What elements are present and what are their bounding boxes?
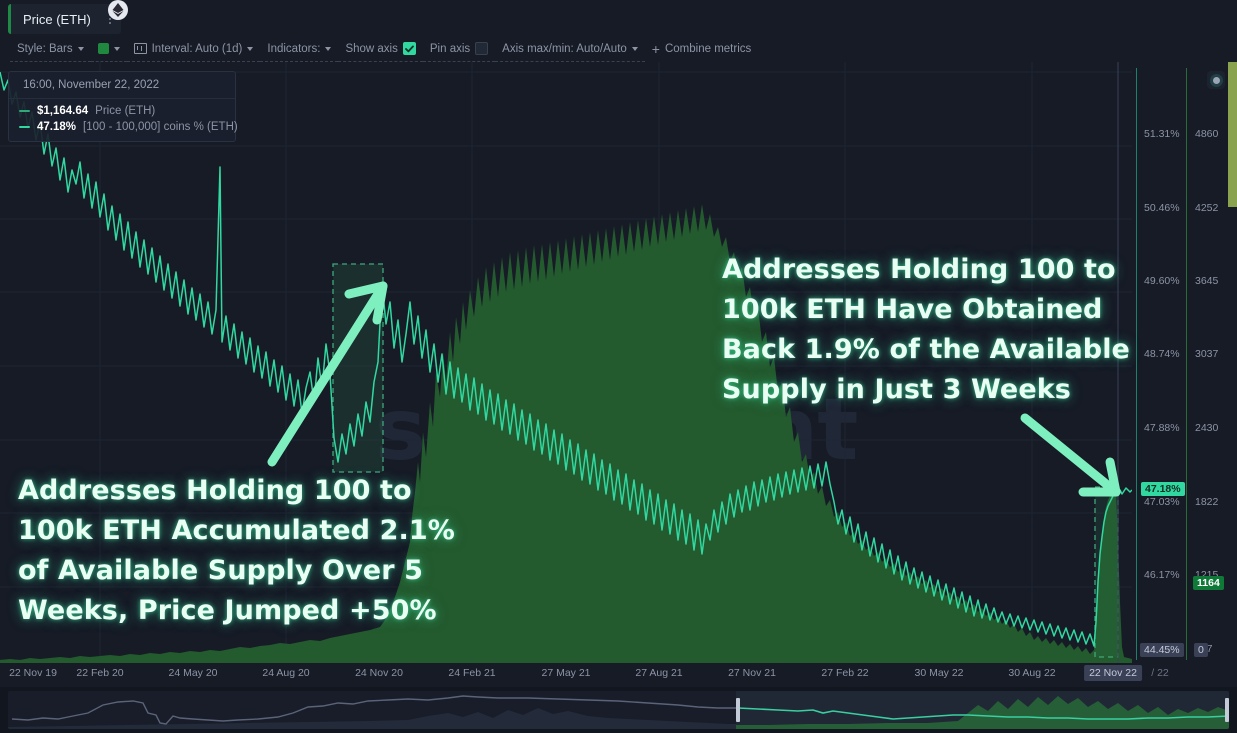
legend-date: 16:00, November 22, 2022 — [9, 72, 235, 99]
axis-tick: 49.60% — [1144, 275, 1180, 287]
x-axis-tick: 30 May 22 — [914, 667, 963, 679]
axis-tick: 51.31% — [1144, 128, 1180, 140]
show-axis-toggle[interactable]: Show axis — [338, 36, 422, 62]
ethereum-icon — [108, 0, 128, 20]
arrow-down-right-icon — [1025, 418, 1116, 492]
metric-tab-label: Price (ETH) — [23, 12, 91, 27]
axis-current-value-badge: 47.18% — [1141, 482, 1185, 496]
legend-series-name: [100 - 100,000] coins % (ETH) — [83, 121, 238, 133]
plot-area[interactable] — [0, 62, 1132, 663]
chart-canvas[interactable]: santiment — [0, 62, 1237, 663]
axis-tick: 4860 — [1195, 128, 1218, 140]
axis-tick: 4252 — [1195, 202, 1218, 214]
axis-tick: 47.88% — [1144, 422, 1180, 434]
chevron-down-icon — [78, 47, 84, 51]
legend-row-supply: 47.18% [100 - 100,000] coins % (ETH) — [19, 121, 225, 133]
interval-bars-icon — [134, 43, 147, 54]
interval-label: Interval: Auto (1d) — [152, 43, 243, 55]
chevron-down-icon — [247, 47, 253, 51]
olive-edge-strip — [1228, 62, 1237, 207]
axis-maxmin-selector[interactable]: Axis max/min: Auto/Auto — [495, 36, 645, 62]
x-axis-tick-trailing: / 22 — [1151, 667, 1169, 679]
navigator-track[interactable] — [8, 691, 1229, 729]
color-selector[interactable] — [91, 36, 127, 62]
axis-tick: 48.74% — [1144, 348, 1180, 360]
top-bar: Price (ETH) — [0, 0, 1237, 36]
axis-current-value-badge: 1164 — [1193, 576, 1224, 590]
navigator-handle-left[interactable] — [736, 698, 740, 722]
range-navigator[interactable] — [0, 687, 1237, 733]
legend-value: 47.18% — [37, 121, 76, 133]
x-axis-tick: 27 Aug 21 — [635, 667, 682, 679]
axis-tick: 3037 — [1195, 348, 1218, 360]
legend-series-name: Price (ETH) — [95, 105, 155, 117]
legend-value: $1,164.64 — [37, 105, 88, 117]
axis-tick: 1822 — [1195, 496, 1218, 508]
chart-legend-tooltip: 16:00, November 22, 2022 $1,164.64 Price… — [8, 71, 236, 142]
chevron-down-icon — [325, 47, 331, 51]
combine-metrics-button[interactable]: + Combine metrics — [645, 36, 758, 62]
axis-min-badge: 44.45% — [1140, 643, 1184, 657]
color-swatch-icon — [98, 43, 109, 54]
legend-rows: $1,164.64 Price (ETH) 47.18% [100 - 100,… — [9, 99, 235, 141]
x-axis-tick: 27 Nov 21 — [728, 667, 776, 679]
legend-color-dash — [19, 110, 30, 112]
metric-tab-price-eth[interactable]: Price (ETH) — [8, 4, 121, 34]
x-axis-tick: 24 Nov 20 — [355, 667, 403, 679]
x-axis-tick: 22 Feb 20 — [76, 667, 123, 679]
chart-graphics — [0, 62, 1132, 663]
indicators-selector[interactable]: Indicators: — [260, 36, 338, 62]
plus-icon: + — [652, 42, 660, 56]
axis-tick: 50.46% — [1144, 202, 1180, 214]
navigator-selection[interactable] — [736, 691, 1229, 729]
legend-row-price: $1,164.64 Price (ETH) — [19, 105, 225, 117]
x-axis-tick: 24 May 20 — [168, 667, 217, 679]
chevron-down-icon — [114, 47, 120, 51]
x-axis-tick: 27 May 21 — [541, 667, 590, 679]
show-axis-label: Show axis — [345, 43, 397, 55]
pin-axis-checkbox[interactable] — [475, 42, 488, 55]
x-axis-tick: 30 Aug 22 — [1008, 667, 1055, 679]
settings-dot-icon[interactable] — [1207, 71, 1225, 89]
navigator-handle-right[interactable] — [1225, 698, 1229, 722]
x-axis[interactable]: 22 Nov 19 22 Feb 20 24 May 20 24 Aug 20 … — [0, 663, 1237, 687]
indicators-label: Indicators: — [267, 43, 320, 55]
axis-tick: 3645 — [1195, 275, 1218, 287]
show-axis-checkbox[interactable] — [403, 42, 416, 55]
x-axis-tick: 22 Nov 19 — [9, 667, 57, 679]
x-axis-current-badge: 22 Nov 22 — [1084, 665, 1142, 681]
x-axis-tick: 24 Aug 20 — [262, 667, 309, 679]
y-axis-percent[interactable]: 51.31% 50.46% 49.60% 48.74% 47.88% 47.03… — [1132, 62, 1182, 663]
axis-min-badge: 0 — [1194, 643, 1208, 657]
style-selector[interactable]: Style: Bars — [10, 36, 91, 62]
axis-line — [1136, 68, 1137, 660]
axis-tick: 47.03% — [1144, 496, 1180, 508]
axis-maxmin-label: Axis max/min: Auto/Auto — [502, 43, 627, 55]
pin-axis-toggle[interactable]: Pin axis — [423, 36, 495, 62]
x-axis-tick: 24 Feb 21 — [448, 667, 495, 679]
axis-line — [1186, 68, 1187, 660]
axis-tick: 46.17% — [1144, 569, 1180, 581]
style-label: Style: Bars — [17, 43, 73, 55]
chevron-down-icon — [632, 47, 638, 51]
axis-tick: 2430 — [1195, 422, 1218, 434]
pin-axis-label: Pin axis — [430, 43, 470, 55]
combine-metrics-label: Combine metrics — [665, 43, 751, 55]
x-axis-tick: 27 Feb 22 — [821, 667, 868, 679]
legend-color-dash — [19, 126, 30, 128]
chart-controls-bar: Style: Bars Interval: Auto (1d) Indicato… — [0, 36, 1237, 62]
interval-selector[interactable]: Interval: Auto (1d) — [127, 36, 261, 62]
